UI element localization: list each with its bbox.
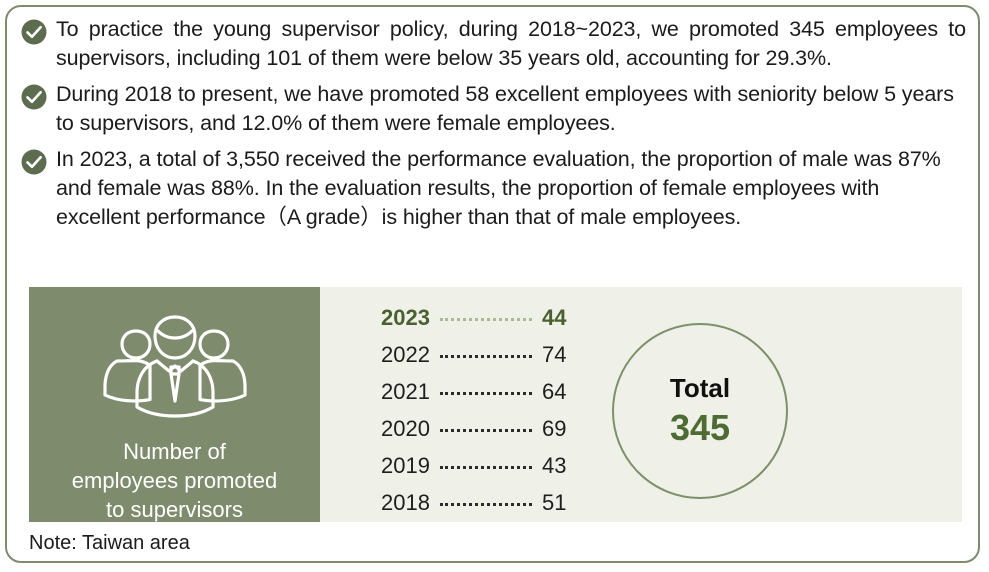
check-circle-icon — [21, 19, 47, 45]
year-value: 64 — [542, 379, 578, 405]
dotted-leader-icon — [440, 381, 532, 403]
list-item: 2020 69 — [368, 410, 578, 447]
year-value: 69 — [542, 416, 578, 442]
year-label: 2022 — [368, 342, 430, 368]
total-label: Total — [670, 373, 730, 403]
list-item: 2019 43 — [368, 447, 578, 484]
total-value: 345 — [670, 407, 730, 449]
year-label: 2018 — [368, 490, 430, 516]
stats-panel-left-label: Number of employees promoted to supervis… — [72, 437, 277, 524]
list-item: 2021 64 — [368, 373, 578, 410]
year-label: 2020 — [368, 416, 430, 442]
year-value: 51 — [542, 490, 578, 516]
dotted-leader-icon — [440, 492, 532, 514]
list-item: 2018 51 — [368, 484, 578, 521]
bullet-item: During 2018 to present, we have promoted… — [21, 80, 966, 138]
year-value: 44 — [542, 305, 578, 331]
stats-panel-right: 2023 44 2022 74 2021 64 2020 — [320, 287, 962, 522]
info-card: To practice the young supervisor policy,… — [5, 5, 980, 563]
dotted-leader-icon — [440, 418, 532, 440]
note-text: Note: Taiwan area — [29, 532, 190, 555]
bullet-text: During 2018 to present, we have promoted… — [56, 80, 966, 138]
people-group-icon — [95, 309, 255, 421]
total-badge: Total 345 — [612, 323, 788, 499]
bullet-text: To practice the young supervisor policy,… — [56, 15, 966, 73]
check-circle-icon — [21, 149, 47, 175]
list-item: 2023 44 — [368, 299, 578, 336]
year-label: 2021 — [368, 379, 430, 405]
year-label: 2023 — [368, 305, 430, 331]
dotted-leader-icon — [440, 307, 532, 329]
check-circle-icon — [21, 84, 47, 110]
year-value: 43 — [542, 453, 578, 479]
bullet-item: To practice the young supervisor policy,… — [21, 15, 966, 73]
stats-panel-left: Number of employees promoted to supervis… — [29, 287, 320, 522]
year-value-list: 2023 44 2022 74 2021 64 2020 — [368, 299, 578, 521]
dotted-leader-icon — [440, 344, 532, 366]
bullet-item: In 2023, a total of 3,550 received the p… — [21, 145, 966, 232]
stats-panel: Number of employees promoted to supervis… — [29, 287, 962, 522]
year-label: 2019 — [368, 453, 430, 479]
dotted-leader-icon — [440, 455, 532, 477]
list-item: 2022 74 — [368, 336, 578, 373]
bullet-list: To practice the young supervisor policy,… — [21, 15, 966, 239]
bullet-text: In 2023, a total of 3,550 received the p… — [56, 145, 966, 232]
year-value: 74 — [542, 342, 578, 368]
